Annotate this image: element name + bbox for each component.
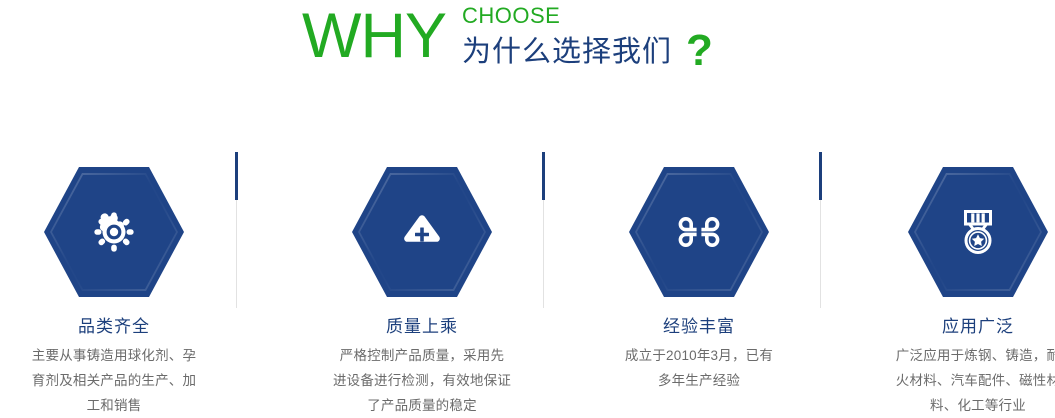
card-body: 严格控制产品质量，采用先 进设备进行检测，有效地保证 了产品质量的稳定: [291, 343, 553, 418]
feature-card[interactable]: 品类齐全 主要从事铸造用球化剂、孕 育剂及相关产品的生产、加 工和销售: [0, 150, 237, 416]
heading-inner: WHY CHOOSE 为什么选择我们 ?: [302, 0, 713, 72]
hexagon-badge: [629, 167, 769, 297]
card-title: 应用广泛: [855, 316, 1055, 338]
card-body-line: 成立于2010年3月，已有: [568, 343, 830, 368]
triangle-plus-icon: [352, 167, 492, 297]
feature-cards-row: 品类齐全 主要从事铸造用球化剂、孕 育剂及相关产品的生产、加 工和销售 质量上乘…: [0, 150, 1055, 416]
feature-card[interactable]: 质量上乘 严格控制产品质量，采用先 进设备进行检测，有效地保证 了产品质量的稳定: [299, 150, 545, 416]
card-body-line: 广泛应用于炼钢、铸造，耐: [847, 343, 1055, 368]
card-separator: [820, 152, 821, 308]
hexagon-badge: [44, 167, 184, 297]
four-petal-clover-icon: [629, 167, 769, 297]
card-body-line: 主要从事铸造用球化剂、孕: [0, 343, 245, 368]
card-title: 质量上乘: [299, 316, 545, 338]
heading-why-word: WHY: [302, 0, 446, 72]
card-body: 广泛应用于炼钢、铸造，耐 火材料、汽车配件、磁性材 料、化工等行业: [847, 343, 1055, 418]
card-separator: [543, 152, 544, 308]
medal-icon: [908, 167, 1048, 297]
card-separator: [236, 152, 237, 308]
card-body-line: 多年生产经验: [568, 368, 830, 393]
card-body: 主要从事铸造用球化剂、孕 育剂及相关产品的生产、加 工和销售: [0, 343, 245, 418]
heading-question-mark: ?: [686, 33, 713, 69]
heading-choose-word: CHOOSE: [462, 3, 713, 29]
feature-card[interactable]: 应用广泛 广泛应用于炼钢、铸造，耐 火材料、汽车配件、磁性材 料、化工等行业: [855, 150, 1055, 416]
card-body-line: 料、化工等行业: [847, 393, 1055, 418]
heading-chinese-row: 为什么选择我们 ?: [462, 29, 713, 70]
card-body-line: 严格控制产品质量，采用先: [291, 343, 553, 368]
card-body-line: 育剂及相关产品的生产、加: [0, 368, 245, 393]
heading-text-stack: CHOOSE 为什么选择我们 ?: [462, 0, 713, 70]
hexagon-badge: [352, 167, 492, 297]
card-title: 经验丰富: [576, 316, 822, 338]
feature-card[interactable]: 经验丰富 成立于2010年3月，已有 多年生产经验: [576, 150, 822, 416]
hexagon-badge: [908, 167, 1048, 297]
card-body-line: 了产品质量的稳定: [291, 393, 553, 418]
gear-icon: [44, 167, 184, 297]
heading-chinese-title: 为什么选择我们: [462, 34, 672, 70]
card-body-line: 进设备进行检测，有效地保证: [291, 368, 553, 393]
card-body: 成立于2010年3月，已有 多年生产经验: [568, 343, 830, 393]
card-body-line: 工和销售: [0, 393, 245, 418]
card-body-line: 火材料、汽车配件、磁性材: [847, 368, 1055, 393]
section-heading: WHY CHOOSE 为什么选择我们 ?: [0, 0, 1055, 100]
card-title: 品类齐全: [0, 316, 237, 338]
